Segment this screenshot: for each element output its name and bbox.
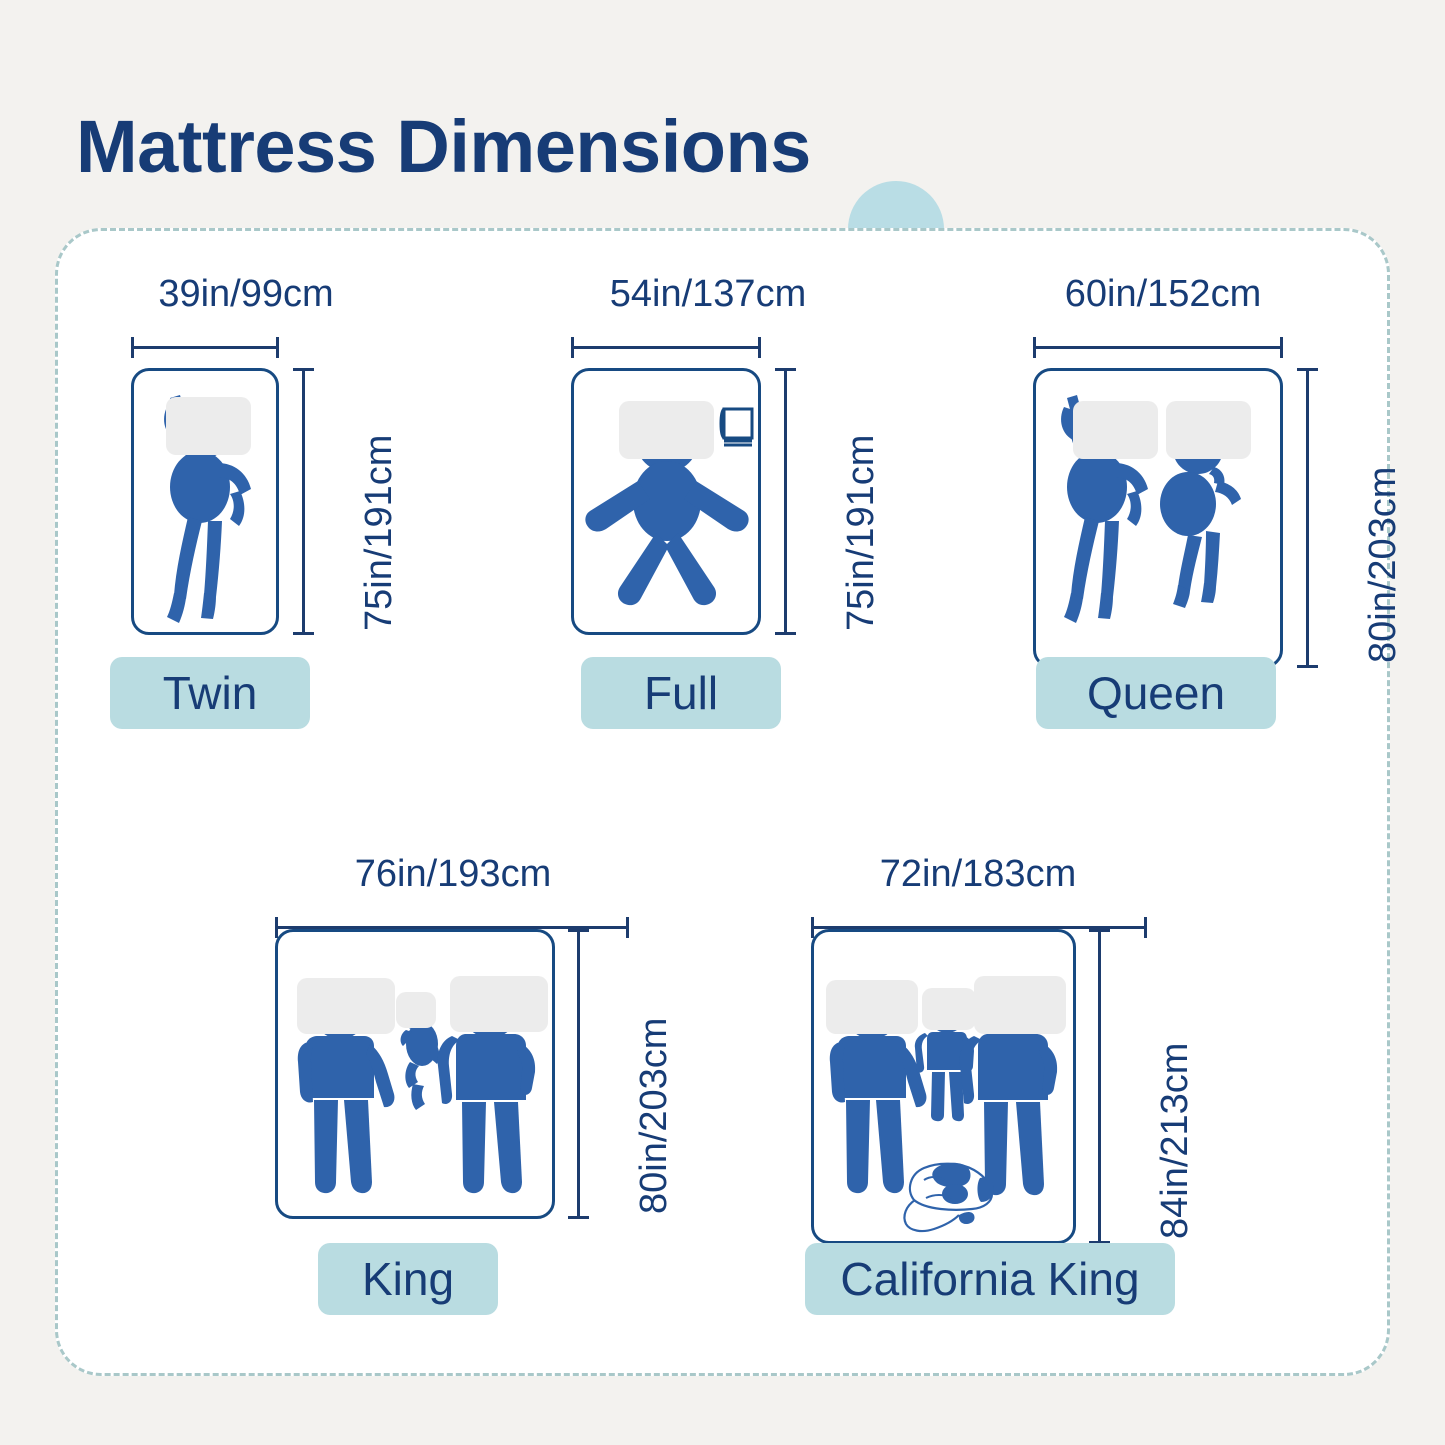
- bed-card-california-king[interactable]: 72in/183cm: [793, 829, 1233, 1389]
- queen-height-dimension-line: [1297, 368, 1317, 668]
- king-width-label: 76in/193cm: [258, 853, 648, 896]
- full-height-dimension-line: [775, 368, 795, 635]
- pillow: [1166, 401, 1251, 459]
- calking-width-label: 72in/183cm: [793, 853, 1163, 896]
- bed-name-badge-california-king[interactable]: California King: [805, 1243, 1175, 1315]
- calking-mattress-box: [811, 929, 1076, 1244]
- pillow: [166, 397, 251, 455]
- full-height-label: 75in/191cm: [840, 435, 883, 631]
- twin-width-dimension-line: [131, 337, 279, 357]
- bed-name-badge-twin[interactable]: Twin: [110, 657, 310, 729]
- twin-width-label: 39in/99cm: [76, 273, 416, 316]
- dog-icon: [904, 1163, 994, 1231]
- bed-card-full[interactable]: 54in/137cm: [518, 231, 898, 771]
- queen-height-label: 80in/203cm: [1362, 467, 1405, 663]
- king-mattress-box: [275, 929, 555, 1219]
- pillow: [297, 978, 395, 1034]
- twin-mattress-box: [131, 368, 279, 635]
- full-width-dimension-line: [571, 337, 761, 357]
- book-icon: [718, 405, 758, 451]
- king-height-dimension-line: [568, 929, 588, 1219]
- full-mattress-box: [571, 368, 761, 635]
- twin-height-label: 75in/191cm: [358, 435, 401, 631]
- full-width-label: 54in/137cm: [518, 273, 898, 316]
- pillow: [619, 401, 714, 459]
- pillow: [974, 976, 1066, 1034]
- bed-card-queen[interactable]: 60in/152cm: [983, 231, 1383, 771]
- calking-height-dimension-line: [1089, 929, 1109, 1244]
- pillow: [1073, 401, 1158, 459]
- pillow: [922, 988, 976, 1030]
- calking-height-label: 84in/213cm: [1154, 1043, 1197, 1239]
- bed-name-badge-king[interactable]: King: [318, 1243, 498, 1315]
- queen-width-dimension-line: [1033, 337, 1283, 357]
- bed-card-king[interactable]: 76in/193cm: [258, 829, 678, 1389]
- twin-height-dimension-line: [293, 368, 313, 635]
- queen-width-label: 60in/152cm: [983, 273, 1343, 316]
- king-height-label: 80in/203cm: [633, 1018, 676, 1214]
- pillow: [450, 976, 548, 1032]
- bed-name-badge-queen[interactable]: Queen: [1036, 657, 1276, 729]
- page-header: Mattress Dimensions: [76, 82, 976, 212]
- dimensions-panel: 39in/99cm: [55, 228, 1390, 1376]
- pillow: [396, 992, 436, 1028]
- queen-mattress-box: [1033, 368, 1283, 668]
- pillow: [826, 980, 918, 1034]
- bed-card-twin[interactable]: 39in/99cm: [58, 231, 418, 771]
- page-title: Mattress Dimensions: [76, 82, 811, 212]
- bed-name-badge-full[interactable]: Full: [581, 657, 781, 729]
